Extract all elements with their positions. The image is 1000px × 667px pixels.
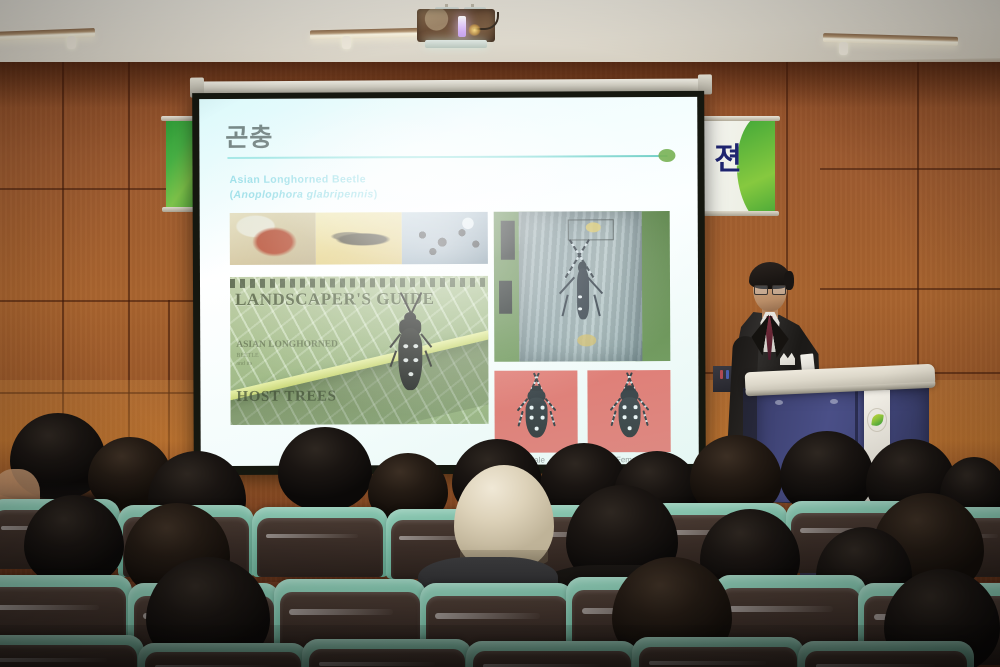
guide-top-dash-row bbox=[230, 278, 488, 288]
seat bbox=[798, 641, 974, 667]
wall-seam bbox=[0, 392, 210, 394]
ceiling-light bbox=[310, 28, 430, 40]
projector-base bbox=[425, 40, 487, 48]
lectern-knob[interactable] bbox=[830, 399, 838, 404]
seat-highlight bbox=[649, 661, 766, 665]
slide-subtitle-scientific-name: (Anoplophora glabripennis) bbox=[230, 186, 676, 203]
seat-highlight bbox=[289, 609, 392, 615]
beetle-larva-photo bbox=[316, 213, 402, 265]
wall-seam bbox=[820, 168, 1000, 170]
ceiling-light-fixture bbox=[839, 42, 848, 55]
photo-notch bbox=[499, 281, 511, 314]
slide-left-column: LANDSCAPER'S GUIDE ASIAN LONGHORNED BEET… bbox=[230, 212, 489, 425]
glasses-icon bbox=[754, 285, 786, 293]
right-banner: 젼 bbox=[703, 116, 775, 212]
seat-highlight bbox=[0, 658, 107, 662]
beetle-on-trunk-photo bbox=[494, 211, 671, 362]
seat bbox=[466, 641, 638, 667]
wall-seam bbox=[0, 300, 200, 302]
ceiling-projector bbox=[417, 4, 495, 47]
lectern-top-surface bbox=[745, 364, 936, 393]
seat bbox=[302, 639, 472, 667]
ceiling-light-fixture bbox=[67, 36, 76, 49]
slide-title: 곤충 bbox=[225, 123, 675, 150]
seat-highlight bbox=[435, 613, 540, 619]
maple-leaf-photo bbox=[230, 213, 316, 265]
banner-bottom-bar bbox=[699, 211, 779, 216]
seat bbox=[0, 635, 144, 667]
beetle-abdomen bbox=[398, 329, 422, 391]
beetle-leg bbox=[424, 351, 432, 368]
wall-seam bbox=[820, 288, 1000, 290]
seat bbox=[632, 637, 804, 667]
slide-title-dot bbox=[658, 149, 675, 162]
photo-strip bbox=[230, 212, 488, 265]
projector-lamp-glow bbox=[468, 24, 481, 36]
attendee-head bbox=[24, 495, 124, 587]
lecture-hall-scene: 젼 곤충 Asian Longhorned Beetle (Anoplophor… bbox=[0, 0, 1000, 667]
guide-footer: HOST TREES bbox=[236, 389, 336, 406]
banner-korean-glyph: 젼 bbox=[707, 145, 749, 175]
slide-title-rule bbox=[227, 155, 667, 159]
seat-headrest bbox=[0, 645, 137, 667]
seat-highlight bbox=[266, 534, 359, 539]
beetle-leg bbox=[390, 351, 398, 368]
audience bbox=[0, 407, 1000, 667]
beetle-illustration bbox=[380, 306, 440, 410]
lectern-knob[interactable] bbox=[775, 400, 783, 405]
photo-notch bbox=[501, 221, 515, 260]
slide-subtitle: Asian Longhorned Beetle (Anoplophora gla… bbox=[230, 171, 676, 203]
seat bbox=[252, 507, 388, 577]
projector-lens bbox=[458, 16, 466, 37]
seat-headrest bbox=[257, 518, 382, 577]
seat-highlight bbox=[729, 606, 832, 612]
seat-highlight bbox=[0, 605, 99, 610]
guide-title: LANDSCAPER'S GUIDE bbox=[235, 289, 484, 310]
beetle-body bbox=[577, 269, 590, 320]
seat-highlight bbox=[319, 662, 435, 666]
ceiling-light-fixture bbox=[342, 36, 351, 49]
pen bbox=[720, 370, 723, 379]
exit-holes-bark-photo bbox=[402, 212, 488, 264]
ceiling-light bbox=[0, 28, 95, 41]
banner-cloth: 젼 bbox=[703, 121, 775, 212]
seat bbox=[138, 643, 308, 667]
guide-subtitle: ASIAN LONGHORNED BEETLE and its bbox=[236, 339, 356, 369]
attendee-head bbox=[278, 427, 372, 511]
landscapers-guide-cover: LANDSCAPER'S GUIDE ASIAN LONGHORNED BEET… bbox=[230, 276, 489, 425]
